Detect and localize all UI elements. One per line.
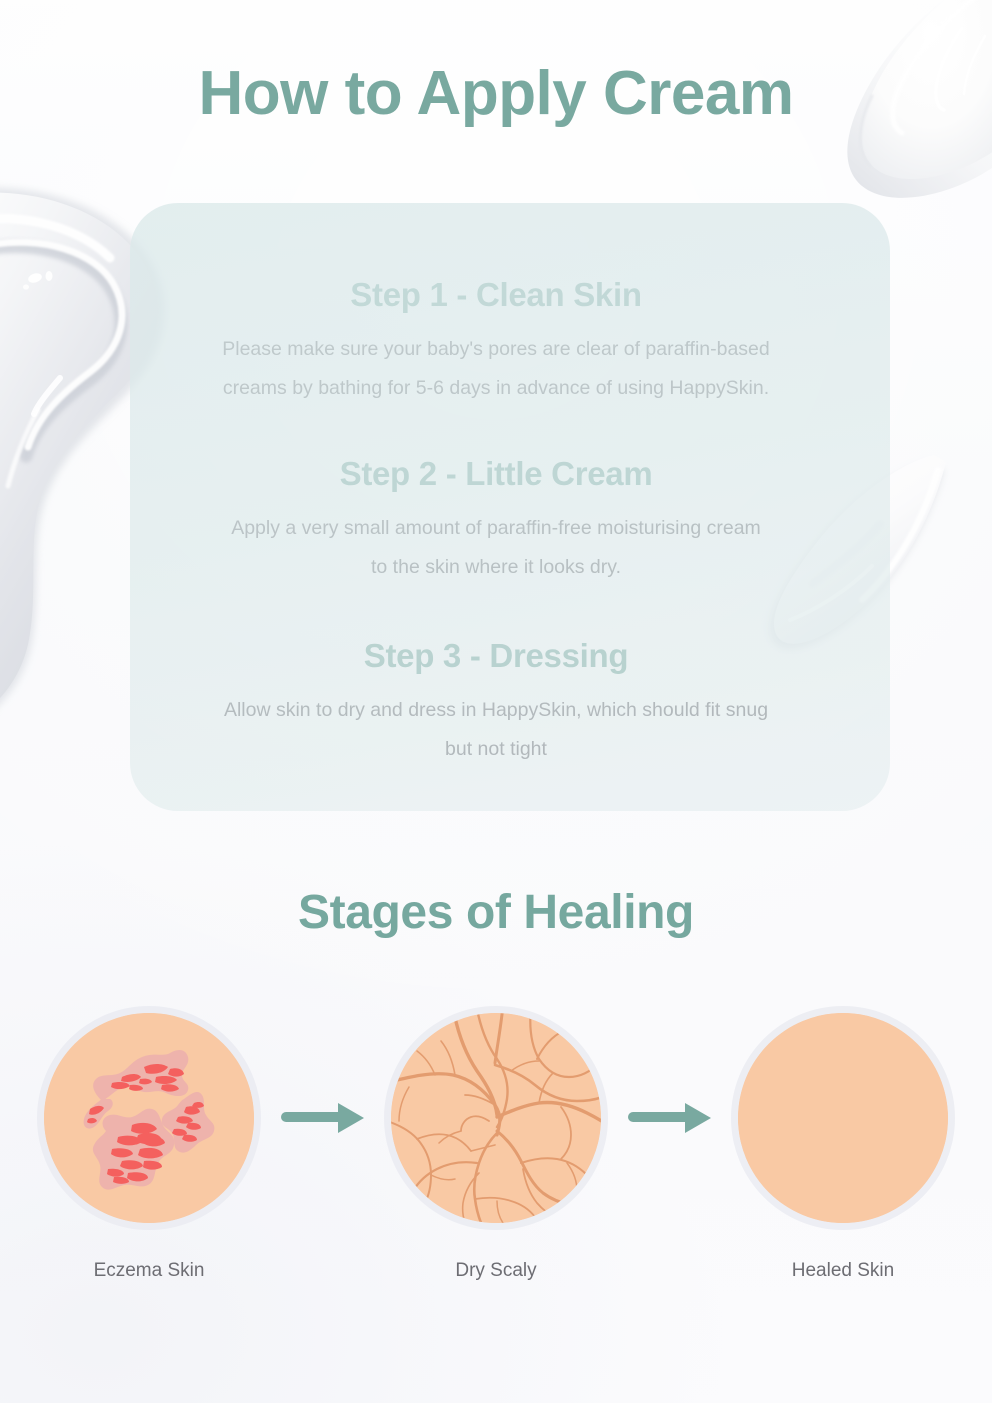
arrow-1-wrapper [261,1013,385,1223]
arrow-2-wrapper [608,1013,732,1223]
dry-scaly-skin-icon [391,1013,601,1223]
stage-item-eczema-skin: Eczema Skin [38,1013,261,1282]
steps-card-panel [130,203,890,811]
arrow-right-icon [627,1101,713,1135]
section-title-stages-of-healing: Stages of Healing [0,885,992,940]
stages-of-healing-row: Eczema Skin [0,1013,992,1282]
stage-label-healed-skin: Healed Skin [792,1260,894,1282]
stage-item-dry-scaly: Dry Scaly [385,1013,608,1282]
arrow-right-icon [280,1101,366,1135]
healed-skin-icon [738,1013,948,1223]
stage-label-eczema-skin: Eczema Skin [94,1260,205,1282]
eczema-skin-icon [44,1013,254,1223]
stage-label-dry-scaly: Dry Scaly [455,1260,536,1282]
page-title: How to Apply Cream [0,58,992,129]
stage-item-healed-skin: Healed Skin [732,1013,955,1282]
